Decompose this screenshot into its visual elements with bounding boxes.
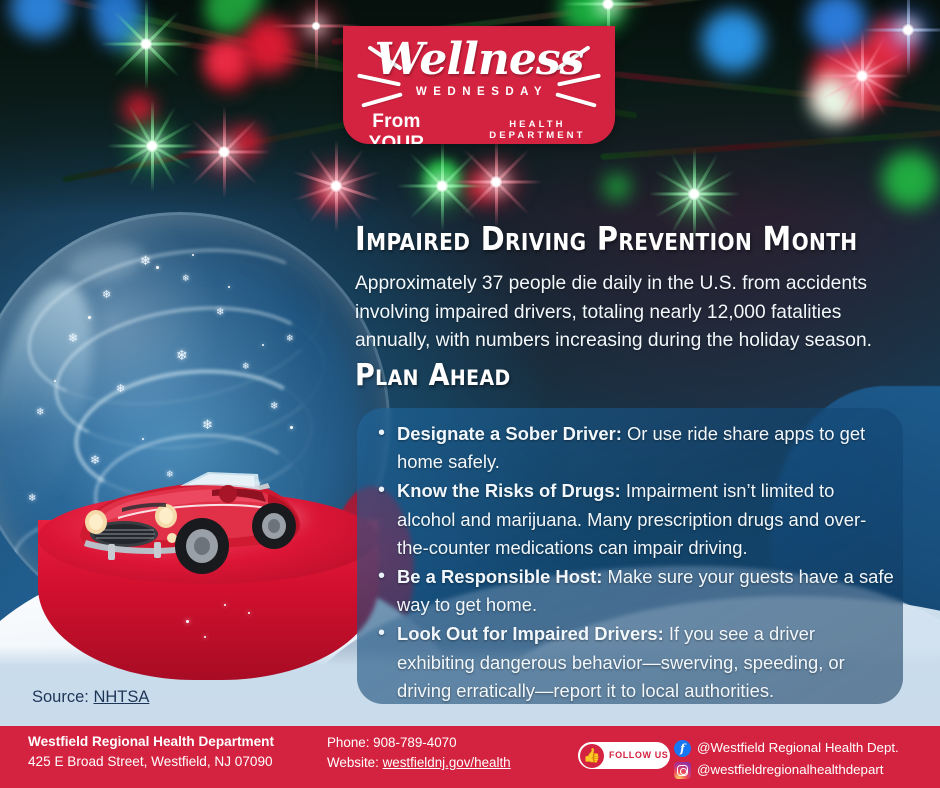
list-item: Look Out for Impaired Drivers: If you se… bbox=[375, 620, 895, 705]
badge-script-title: Wellness bbox=[343, 34, 615, 85]
bokeh-light-green bbox=[604, 174, 630, 200]
badge-dept-label: HEALTH DEPARTMENT bbox=[460, 119, 615, 141]
sparkle-dot bbox=[290, 426, 293, 429]
sparkle-dot bbox=[54, 380, 56, 382]
footer-bar: Westfield Regional Health Department 425… bbox=[0, 726, 940, 788]
thumbs-up-icon: 👍 bbox=[580, 744, 604, 768]
sparkle-dot bbox=[186, 620, 189, 623]
bokeh-light-blue bbox=[702, 10, 764, 72]
instagram-icon[interactable] bbox=[674, 762, 691, 779]
footer-website-link[interactable]: westfieldnj.gov/health bbox=[383, 755, 511, 770]
bokeh-light-red bbox=[210, 48, 238, 76]
snowflake: ❄ bbox=[36, 408, 44, 418]
snowflake: ❄ bbox=[242, 362, 250, 371]
sparkle-dot bbox=[248, 612, 250, 614]
sparkle-dot bbox=[224, 604, 226, 606]
source-label: Source: bbox=[32, 688, 89, 706]
sparkle-dot bbox=[228, 286, 230, 288]
intro-paragraph: Approximately 37 people die daily in the… bbox=[355, 270, 895, 356]
list-item: Know the Risks of Drugs: Impairment isn’… bbox=[375, 477, 895, 562]
follow-us-label: FOLLOW US bbox=[609, 750, 668, 760]
list-item: Be a Responsible Host: Make sure your gu… bbox=[375, 563, 895, 619]
badge-from-row: From YOUR HEALTH DEPARTMENT bbox=[343, 111, 615, 144]
footer-phone: Phone: 908-789-4070 bbox=[327, 735, 457, 750]
source-link[interactable]: NHTSA bbox=[93, 688, 149, 706]
snowflake: ❄ bbox=[140, 254, 151, 267]
page-title: Impaired Driving Prevention Month bbox=[355, 222, 898, 255]
snowflake: ❄ bbox=[176, 348, 188, 362]
snowflake: ❄ bbox=[216, 308, 224, 318]
instagram-glyph bbox=[677, 765, 688, 776]
sparkle-dot bbox=[262, 344, 264, 346]
bokeh-light-green bbox=[882, 152, 938, 208]
footer-website-label: Website: bbox=[327, 755, 379, 770]
sparkle-dot bbox=[156, 266, 159, 269]
snowflake: ❄ bbox=[182, 274, 190, 283]
source-credit: Source: NHTSA bbox=[32, 688, 149, 707]
sparkle-dot bbox=[204, 636, 206, 638]
section-heading: Plan Ahead bbox=[355, 361, 511, 391]
snowflake: ❄ bbox=[68, 332, 78, 344]
snowflake: ❄ bbox=[102, 290, 111, 301]
tips-list: Designate a Sober Driver: Or use ride sh… bbox=[375, 420, 895, 706]
tip-title: Look Out for Impaired Drivers: bbox=[397, 623, 664, 644]
sparkle-dot bbox=[142, 438, 144, 440]
wellness-wednesday-badge: Wellness WEDNESDAY From YOUR HEALTH DEPA… bbox=[343, 26, 615, 144]
footer-address: 425 E Broad Street, Westfield, NJ 07090 bbox=[28, 754, 273, 769]
sparkle-dot bbox=[88, 316, 91, 319]
footer-website-row: Website: westfieldnj.gov/health bbox=[327, 755, 511, 770]
snowflake: ❄ bbox=[116, 384, 125, 395]
list-item: Designate a Sober Driver: Or use ride sh… bbox=[375, 420, 895, 476]
tip-title: Designate a Sober Driver: bbox=[397, 423, 622, 444]
tip-title: Be a Responsible Host: bbox=[397, 566, 602, 587]
poster-canvas: ❄ ❄ ❄ ❄ ❄ ❄ ❄ ❄ ❄ ❄ ❄ ❄ ❄ ❄ ❄ ❄ ❄ ❄ ❄ ❄ bbox=[0, 0, 940, 788]
snowflake: ❄ bbox=[28, 494, 36, 504]
facebook-icon[interactable]: f bbox=[674, 740, 691, 757]
instagram-handle: @westfieldregionalhealthdepart bbox=[697, 762, 883, 777]
red-convertible-car bbox=[62, 450, 328, 580]
tip-title: Know the Risks of Drugs: bbox=[397, 480, 621, 501]
snowflake: ❄ bbox=[286, 334, 294, 343]
snowflake: ❄ bbox=[202, 418, 213, 431]
facebook-handle: @Westfield Regional Health Dept. bbox=[697, 740, 899, 755]
badge-from-label: From YOUR bbox=[343, 111, 450, 144]
footer-org-name: Westfield Regional Health Department bbox=[28, 734, 274, 749]
follow-us-button[interactable]: 👍 FOLLOW US bbox=[578, 742, 670, 769]
sparkle-dot bbox=[192, 254, 194, 256]
snowflake: ❄ bbox=[270, 402, 278, 412]
